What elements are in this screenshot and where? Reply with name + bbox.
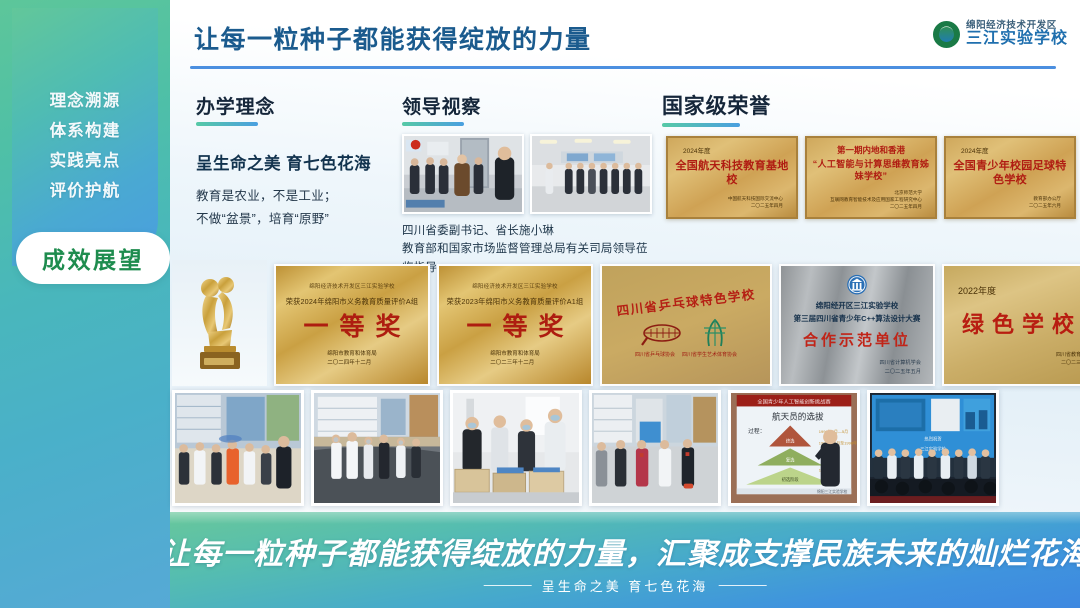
sidebar-panel: 理念溯源 体系构建 实践亮点 评价护航: [12, 8, 158, 266]
award-issuer-line-1: 四川省计算机学会: [879, 359, 921, 367]
honor-plaque-ai-sister-school[interactable]: 第一期内地和香港 “人工智能与计算思维教育姊妹学校” 北京师范大学 互联网教育智…: [805, 136, 937, 219]
award-title: 合作示范单位: [803, 329, 911, 350]
award-issuer-line-2: 二〇二五年五月: [879, 368, 921, 376]
award-title: 一等奖: [292, 315, 411, 340]
award-emblem-left-label: 四川省乒乓球协会: [635, 351, 675, 358]
inspection-photo-corridor[interactable]: [402, 134, 524, 214]
award-subtitle: 荣获2023年绵阳市义务教育质量评价A1组: [447, 297, 584, 307]
sidebar-item-outlook-active[interactable]: 成效展望: [16, 232, 170, 284]
philosophy-line-1: 教育是农业，不是工业；: [196, 185, 386, 208]
campus-walk-inspection-photo[interactable]: [311, 390, 443, 506]
award-subtitle: 第三届四川省青少年C++算法设计大赛: [794, 313, 921, 324]
svg-text:过程：: 过程：: [748, 427, 765, 435]
honor-issuer: 教育部办公厅 二〇二五年六月: [1029, 196, 1061, 210]
sidebar-active-label: 成效展望: [42, 241, 144, 275]
school-crest-icon: [933, 21, 960, 48]
inspection-photo-hall[interactable]: [530, 134, 652, 214]
heading-national-honors: 国家级荣誉: [662, 90, 771, 127]
bottom-banner: 让每一粒种子都能获得绽放的力量，汇聚成支撑民族未来的灿烂花海 呈生命之美 育七色…: [170, 512, 1080, 608]
banner-subtitle-group: 呈生命之美 育七色花海: [484, 576, 767, 595]
honor-plaque-aerospace[interactable]: 2024年度 全国航天科技教育基地校 中国航天科技国际交流中心 二〇二五年四月: [666, 136, 798, 219]
national-honor-group: 2024年度 全国航天科技教育基地校 中国航天科技国际交流中心 二〇二五年四月 …: [666, 136, 1076, 219]
svg-text:初选阶段: 初选阶段: [782, 476, 800, 483]
honor-issuer-line-1: 教育部办公厅: [1029, 196, 1061, 203]
award-issuer: 绵阳市教育和体育局 二〇二四年十二月: [327, 350, 377, 368]
award-plaque-cpp-partner[interactable]: 绵阳经开区三江实验学校 第三届四川省青少年C++算法设计大赛 合作示范单位 四川…: [779, 264, 935, 386]
award-issuer-line-2: 二〇二三年: [1056, 359, 1080, 367]
academy-seal-icon: [846, 274, 868, 295]
inspection-photo-group: [402, 134, 652, 214]
heading-underline: [196, 122, 258, 126]
heading-national-honors-label: 国家级荣誉: [662, 90, 771, 120]
svg-text:全国青少年人工智能创新挑战赛: 全国青少年人工智能创新挑战赛: [757, 397, 831, 405]
slide-root: 理念溯源 体系构建 实践亮点 评价护航 成效展望 让每一粒种子都能获得绽放的力量…: [0, 0, 1080, 608]
award-issuer-line-2: 二〇二四年十二月: [327, 359, 377, 368]
award-plaque-first-prize-2023[interactable]: 绵阳经济技术开发区三江实验学校 荣获2023年绵阳市义务教育质量评价A1组 一等…: [437, 264, 593, 386]
svg-text:复选: 复选: [786, 457, 795, 464]
golden-trophy-icon: [192, 272, 248, 372]
sidebar-item-practice[interactable]: 实践亮点: [12, 152, 158, 170]
honor-issuer-line-2: 二〇二五年六月: [1029, 203, 1061, 210]
banner-subtitle: 呈生命之美 育七色花海: [542, 576, 709, 595]
philosophy-block: 呈生命之美 育七色花海 教育是农业，不是工业； 不做“盆景”，培育“原野”: [196, 150, 386, 231]
heading-underline: [662, 123, 740, 127]
honor-issuer: 北京师范大学 互联网教育智能技术及应用国家工程研究中心 二〇二五年四月: [830, 190, 922, 211]
honor-year: 2024年度: [961, 145, 988, 155]
award-subtitle: 荣获2024年绵阳市义务教育质量评价A组: [286, 297, 419, 307]
banner-dash-right: [718, 585, 766, 587]
award-emblem-right-label: 四川省学生艺术体育协会: [682, 351, 737, 358]
honor-subtitle: 第一期内地和香港: [837, 144, 905, 156]
award-title: 一等奖: [455, 315, 574, 340]
heading-underline: [402, 122, 464, 126]
arts-association-emblem-icon: [699, 318, 733, 348]
page-title: 让每一粒种子都能获得绽放的力量: [194, 20, 592, 56]
award-emblem-captions: 四川省乒乓球协会 四川省学生艺术体育协会: [635, 351, 737, 358]
honor-issuer-line-2: 互联网教育智能技术及应用国家工程研究中心: [830, 197, 922, 204]
honor-title: 全国青少年校园足球特色学校: [951, 160, 1069, 188]
sidebar: 理念溯源 体系构建 实践亮点 评价护航 成效展望: [0, 0, 170, 608]
award-emblem-group: [639, 318, 733, 348]
svg-text:终选: 终选: [786, 438, 795, 445]
sidebar-item-evaluation[interactable]: 评价护航: [12, 182, 158, 200]
award-issuer: 四川省教育厅 二〇二三年: [1056, 351, 1080, 367]
heading-philosophy: 办学理念: [196, 92, 275, 126]
awards-row: 绵阳经济技术开发区三江实验学校 荣获2024年绵阳市义务教育质量评价A组 一等奖…: [170, 256, 1080, 386]
campus-visit-group-photo[interactable]: [172, 390, 304, 506]
award-plaque-green-school[interactable]: 2022年度 绿色学校 四川省教育厅 二〇二三年: [942, 264, 1080, 386]
honor-title: “人工智能与计算思维教育姊妹学校”: [812, 159, 930, 182]
award-issuer-line-2: 二〇二三年十二月: [490, 359, 540, 368]
heading-philosophy-label: 办学理念: [196, 92, 275, 119]
school-logo: 绵阳经济技术开发区 三江实验学校: [933, 21, 1068, 48]
award-issuer-line-1: 绵阳市教育和体育局: [490, 350, 540, 359]
award-issuer-line-1: 四川省教育厅: [1056, 351, 1080, 359]
sidebar-item-concept[interactable]: 理念溯源: [12, 92, 158, 110]
philosophy-line-2: 不做“盆景”，培育“原野”: [196, 208, 386, 231]
logo-text: 绵阳经济技术开发区 三江实验学校: [966, 21, 1068, 48]
sidebar-nav: 理念溯源 体系构建 实践亮点 评价护航: [12, 92, 158, 213]
award-plaque-first-prize-2024[interactable]: 绵阳经济技术开发区三江实验学校 荣获2024年绵阳市义务教育质量评价A组 一等奖…: [274, 264, 430, 386]
inspection-caption-line-1: 四川省委副书记、省长施小琳: [402, 222, 670, 240]
main-content: 让每一粒种子都能获得绽放的力量 绵阳经济技术开发区 三江实验学校 办学理念 领导…: [170, 0, 1080, 608]
astronaut-selection-lecture-photo[interactable]: 全国青少年人工智能创新挑战赛 航天员的选拔 过程： 终选 复选 初选阶段 199…: [728, 390, 860, 506]
award-year: 2022年度: [958, 284, 996, 297]
sidebar-item-system[interactable]: 体系构建: [12, 122, 158, 140]
honor-issuer: 中国航天科技国际交流中心 二〇二五年四月: [728, 196, 783, 210]
banner-slogan: 让每一粒种子都能获得绽放的力量，汇聚成支撑民族未来的灿烂花海: [170, 529, 1080, 573]
award-school: 绵阳经开区三江实验学校: [816, 300, 899, 311]
award-school: 绵阳经济技术开发区三江实验学校: [309, 282, 395, 290]
award-plaque-table-tennis[interactable]: 四川省乒乓球特色学校 四川省乒乓球协会: [600, 264, 772, 386]
honor-issuer-line-3: 二〇二五年四月: [830, 204, 922, 211]
photo-strip: 全国青少年人工智能创新挑战赛 航天员的选拔 过程： 终选 复选 初选阶段 199…: [170, 390, 1080, 512]
award-title: 绿色学校: [954, 307, 1080, 339]
honor-title: 全国航天科技教育基地校: [673, 160, 791, 188]
award-school: 绵阳经济技术开发区三江实验学校: [472, 282, 558, 290]
playground-discussion-photo[interactable]: [589, 390, 721, 506]
award-issuer: 绵阳市教育和体育局 二〇二三年十二月: [490, 350, 540, 368]
heading-inspection-label: 领导视察: [402, 92, 481, 119]
logo-name: 三江实验学校: [966, 31, 1068, 48]
award-title: 四川省乒乓球特色学校: [615, 284, 756, 320]
award-issuer: 四川省计算机学会 二〇二五年五月: [879, 359, 921, 376]
svg-text:航天员的选拔: 航天员的选拔: [772, 411, 824, 422]
svg-text:绵阳三江实验学校: 绵阳三江实验学校: [817, 489, 848, 494]
honor-issuer-line-1: 中国航天科技国际交流中心: [728, 196, 783, 203]
heading-inspection: 领导视察: [402, 92, 481, 126]
honor-year: 2024年度: [683, 145, 710, 155]
indoor-materials-inspection-photo[interactable]: [450, 390, 582, 506]
award-issuer-line-1: 绵阳市教育和体育局: [327, 350, 377, 359]
banner-dash-left: [484, 585, 532, 587]
philosophy-lead: 呈生命之美 育七色花海: [196, 150, 386, 174]
honor-issuer-line-1: 北京师范大学: [830, 190, 922, 197]
trophy-cell: [172, 260, 267, 386]
table-tennis-emblem-icon: [639, 320, 685, 348]
honor-plaque-football[interactable]: 2024年度 全国青少年校园足球特色学校 教育部办公厅 二〇二五年六月: [944, 136, 1076, 219]
title-divider: [190, 66, 1056, 69]
honor-issuer-line-2: 二〇二五年四月: [728, 203, 783, 210]
svg-text:热烈祝贺: 热烈祝贺: [924, 436, 941, 443]
auditorium-assembly-photo[interactable]: 热烈祝贺三江实验学校: [867, 390, 999, 506]
